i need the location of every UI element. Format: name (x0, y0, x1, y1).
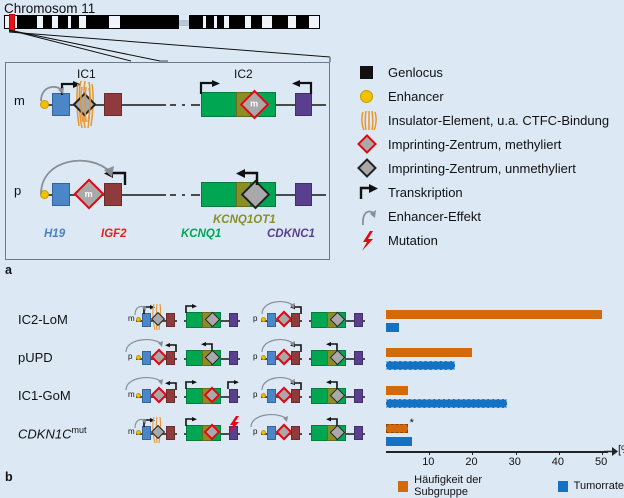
minidiagram-ic2-lom-paternal: p (253, 300, 378, 334)
minidiagram-ic2-lom: m p (128, 300, 378, 334)
legend-label-ic-unmethylated: Imprinting-Zentrum, unmethyliert (388, 161, 576, 176)
minidiagram-cdkn1c-mut-paternal: p (253, 413, 378, 447)
row-label-ic1-gom: IC1-GoM (18, 388, 71, 403)
chromosome-title: Chromosom 11 (4, 1, 95, 16)
minidiagram-ic1-gom-maternal: m (128, 376, 243, 410)
enhancer-effect-arc-icon (249, 411, 297, 429)
enhancer-icon (136, 317, 141, 322)
transcription-arrow-icon-kcnq1ot1 (232, 169, 260, 186)
x-tick-label-30: 30 (509, 456, 521, 468)
bar-pupd-haeufigkeit (386, 348, 472, 357)
gene-label-cdknc1: CDKNC1 (267, 228, 315, 240)
chart-legend-label-haeufigkeit: Häufigkeit der Subgruppe (414, 474, 529, 498)
legend-item-transkription: Transkription (358, 180, 624, 204)
panel-letter-b: b (5, 470, 13, 484)
legend-item-enhancer-effekt: Enhancer-Effekt (358, 204, 624, 228)
gene-box-cdknc1 (229, 351, 238, 365)
gene-box-cdknc1 (354, 313, 363, 327)
allele-label-paternal: p (14, 183, 21, 198)
gene-box-cdknc1 (354, 426, 363, 440)
allele-letter-p: p (253, 390, 257, 399)
row-label-pupd: pUPD (18, 350, 53, 365)
bar-annotation-asterisk: * (410, 417, 414, 429)
allele-letter-p: p (253, 314, 257, 323)
x-tick-30 (516, 451, 517, 455)
transcription-arrow-icon-kcnq1 (199, 80, 225, 96)
legend-label-enhancer-effekt: Enhancer-Effekt (388, 209, 481, 224)
panel-letter-a: a (5, 263, 12, 277)
allele-label-maternal: m (14, 93, 25, 108)
enhancer-icon (136, 393, 141, 398)
legend-label-mutation: Mutation (388, 233, 438, 248)
bar-ic1-gom-haeufigkeit (386, 386, 408, 395)
insulator-icon-overlay (75, 87, 95, 123)
methylation-mark: m (250, 100, 258, 109)
minidiagram-cdkn1c-mut: m p (128, 413, 378, 447)
gene-box-cdknc1 (354, 351, 363, 365)
paternal-track: m (36, 148, 326, 214)
x-tick-label-20: 20 (465, 456, 477, 468)
enhancer-effect-arc-icon (133, 417, 149, 429)
gene-box-cdknc1 (229, 313, 238, 327)
bar-pupd-tumorrate (386, 361, 455, 370)
enhancer-effect-arc-icon (38, 81, 68, 103)
minidiagram-pupd: p p (128, 338, 378, 372)
legend-label-ic-methylated: Imprinting-Zentrum, methyliert (388, 137, 561, 152)
enhancer-effect-arc-icon (358, 205, 388, 227)
allele-letter-p: p (253, 352, 257, 361)
x-tick-20 (472, 451, 473, 455)
figure-legend: Genlocus Enhancer Insulator-Element, u.a… (358, 60, 624, 252)
legend-item-ic-methylated: Imprinting-Zentrum, methyliert (358, 132, 624, 156)
transcription-arrow-icon-cdknc1 (227, 380, 241, 390)
bar-ic2-lom-tumorrate (386, 323, 399, 332)
legend-item-genlocus: Genlocus (358, 60, 624, 84)
enhancer-effect-arc-icon (260, 336, 300, 354)
enhancer-effect-arc-icon-paternal (36, 150, 126, 198)
chart-legend-label-tumorrate: Tumorrate (574, 480, 624, 492)
enhancer-effect-arc-icon (260, 374, 300, 392)
x-tick-label-10: 10 (422, 456, 434, 468)
row-label-cdkn1c-mut: CDKN1Cmut (18, 425, 86, 441)
transcription-arrow-icon-kcnq1 (185, 304, 199, 314)
enhancer-effect-arc-icon (260, 298, 300, 316)
x-tick-label-50: 50 (595, 456, 607, 468)
bar-ic2-lom-haeufigkeit (386, 310, 602, 319)
gene-label-h19: H19 (44, 228, 65, 240)
gene-box-igf2 (166, 426, 175, 440)
chart-bars-layer: * (386, 300, 618, 440)
gene-box-cdknc1 (229, 389, 238, 403)
gene-label-kcnq1: KCNQ1 (181, 228, 221, 240)
bar-chart: * [%] 1020304050 (386, 300, 618, 460)
enhancer-effect-arc-icon (124, 374, 172, 392)
enhancer-icon (136, 430, 141, 435)
red-diamond-icon (358, 133, 388, 155)
lightning-bolt-icon (358, 229, 388, 251)
gene-box-cdknc1 (354, 389, 363, 403)
gene-box-igf2 (104, 93, 122, 116)
minidiagram-pupd-left: p (128, 338, 243, 372)
legend-label-enhancer: Enhancer (388, 89, 444, 104)
legend-label-genlocus: Genlocus (388, 65, 443, 80)
row-label-ic2-lom: IC2-LoM (18, 312, 68, 327)
legend-item-enhancer: Enhancer (358, 84, 624, 108)
black-square-icon (358, 61, 388, 83)
gene-label-igf2: IGF2 (101, 228, 127, 240)
x-tick-10 (429, 451, 430, 455)
minidiagram-ic1-gom-paternal: p (253, 376, 378, 410)
centromere-icon (179, 20, 189, 26)
enhancer-effect-arc-icon (133, 304, 149, 316)
transcription-arrow-icon-kcnq1 (185, 417, 199, 427)
legend-item-ic-unmethylated: Imprinting-Zentrum, unmethyliert (358, 156, 624, 180)
ic1-label: IC1 (77, 67, 96, 81)
yellow-circle-icon (358, 85, 388, 107)
minidiagram-ic1-gom: m p (128, 376, 378, 410)
bar-cdkn1c-mut-haeufigkeit (386, 424, 408, 433)
gene-box-igf2 (166, 313, 175, 327)
chart-legend: Häufigkeit der Subgruppe Tumorrate (398, 474, 624, 498)
gene-box-cdknc1-paternal (295, 183, 312, 206)
maternal-track: m (36, 83, 326, 127)
panel-a-container: IC1 IC2 m (5, 62, 330, 260)
minidiagram-pupd-right: p (253, 338, 378, 372)
enhancer-effect-arc-icon (124, 336, 172, 354)
row-label-cdkn1c-sup: mut (71, 425, 86, 435)
legend-item-insulator: Insulator-Element, u.a. CTFC-Bindung (358, 108, 624, 132)
enhancer-icon (261, 430, 266, 435)
enhancer-icon (261, 393, 266, 398)
chart-x-axis-unit: [%] (618, 444, 624, 456)
transcription-arrow-icon-kcnq1 (185, 380, 199, 390)
leader-lines (0, 28, 340, 62)
enhancer-icon (261, 355, 266, 360)
minidiagram-cdkn1c-mut-maternal: m (128, 413, 243, 447)
enhancer-icon (136, 355, 141, 360)
x-tick-label-40: 40 (552, 456, 564, 468)
x-tick-50 (602, 451, 603, 455)
transcription-arrow-icon (358, 181, 388, 203)
legend-item-mutation: Mutation (358, 228, 624, 252)
gene-label-kcnq1ot1: KCNQ1OT1 (213, 214, 276, 226)
enhancer-icon (261, 317, 266, 322)
legend-label-transkription: Transkription (388, 185, 463, 200)
grey-diamond-icon (358, 157, 388, 179)
legend-label-insulator: Insulator-Element, u.a. CTFC-Bindung (388, 113, 609, 128)
lightning-bolt-icon (228, 416, 242, 436)
insulator-icon (358, 109, 388, 131)
minidiagram-ic2-lom-maternal: m (128, 300, 243, 334)
x-tick-40 (559, 451, 560, 455)
bar-ic1-gom-tumorrate (386, 399, 507, 408)
ic2-label: IC2 (234, 67, 253, 81)
transcription-arrow-icon-cdknc1 (288, 80, 314, 96)
chart-ticks-layer: 1020304050 (386, 451, 618, 473)
bar-cdkn1c-mut-tumorrate (386, 437, 412, 446)
row-label-cdkn1c-gene: CDKN1C (18, 426, 71, 441)
gene-box-cdknc1 (295, 93, 312, 116)
